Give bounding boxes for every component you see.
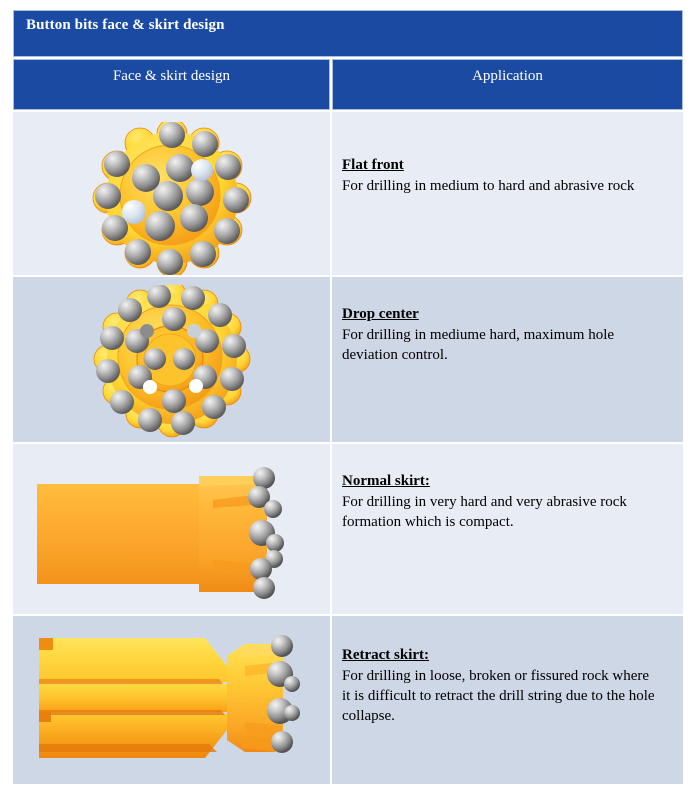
application-cell: Normal skirt: For drilling in very hard … — [332, 444, 683, 614]
bit-image-cell — [13, 277, 330, 442]
table-row: Drop center For drilling in mediume hard… — [13, 277, 683, 442]
table-header-row: Face & skirt design Application — [13, 59, 683, 110]
bit-description: For drilling in very hard and very abras… — [342, 492, 667, 532]
bit-image-cell — [13, 616, 330, 784]
bit-type-heading: Drop center — [342, 306, 419, 323]
bit-type-heading: Flat front — [342, 157, 404, 174]
column-header-label: Application — [472, 68, 543, 85]
bit-image-cell — [13, 112, 330, 275]
bit-type-heading: Normal skirt: — [342, 473, 430, 490]
retract-skirt-bit-side-icon — [31, 626, 321, 771]
drop-center-bit-face-icon — [85, 285, 245, 435]
flat-front-bit-face-icon — [85, 122, 245, 272]
table-row: Flat front For drilling in medium to har… — [13, 112, 683, 275]
bit-description: For drilling in mediume hard, maximum ho… — [342, 325, 667, 365]
column-header-face-skirt-design: Face & skirt design — [13, 59, 330, 110]
table-title-bar: Button bits face & skirt design — [13, 10, 683, 57]
normal-skirt-bit-side-icon — [31, 464, 311, 604]
application-cell: Flat front For drilling in medium to har… — [332, 112, 683, 275]
bit-type-heading: Retract skirt: — [342, 647, 429, 664]
bit-image-cell — [13, 444, 330, 614]
bit-description: For drilling in loose, broken or fissure… — [342, 666, 667, 726]
column-header-application: Application — [332, 59, 683, 110]
column-header-label: Face & skirt design — [113, 68, 230, 85]
application-cell: Drop center For drilling in mediume hard… — [332, 277, 683, 442]
page-root: Button bits face & skirt design Face & s… — [0, 0, 697, 810]
table-row: Normal skirt: For drilling in very hard … — [13, 444, 683, 614]
page-title: Button bits face & skirt design — [26, 16, 225, 34]
bit-description: For drilling in medium to hard and abras… — [342, 176, 667, 196]
table-row: Retract skirt: For drilling in loose, br… — [13, 616, 683, 784]
button-bits-table: Button bits face & skirt design Face & s… — [13, 10, 683, 795]
application-cell: Retract skirt: For drilling in loose, br… — [332, 616, 683, 784]
